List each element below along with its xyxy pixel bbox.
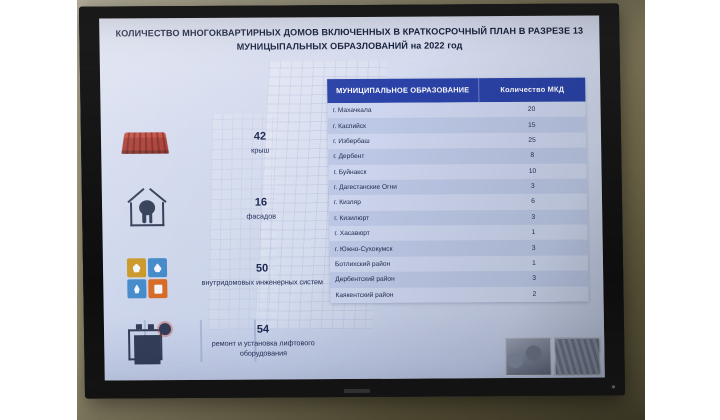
cell-count: 3 (479, 209, 587, 225)
table-row: г. Дербент8 (328, 148, 586, 165)
cell-municipality: г. Махачкала (327, 102, 477, 118)
table-row: г. Дагестанские Огни3 (329, 178, 587, 195)
table-row: г. Избербаш25 (328, 132, 586, 149)
cell-count: 6 (479, 194, 587, 210)
cell-count: 1 (480, 255, 588, 271)
stats-column: 42 крыш 16 (119, 113, 331, 378)
slide-title: КОЛИЧЕСТВО МНОГОКВАРТИРНЫХ ДОМОВ ВКЛЮЧЕН… (115, 24, 583, 55)
house-tools-icon (120, 186, 173, 232)
presentation-slide: КОЛИЧЕСТВО МНОГОКВАРТИРНЫХ ДОМОВ ВКЛЮЧЕН… (99, 15, 605, 380)
stat-item-roofs: 42 крыш (119, 113, 328, 172)
tv-bezel: КОЛИЧЕСТВО МНОГОКВАРТИРНЫХ ДОМОВ ВКЛЮЧЕН… (79, 3, 625, 398)
table-row: г. Кизляр6 (329, 194, 587, 211)
electricity-icon (127, 258, 146, 277)
gear-icon (159, 323, 171, 335)
cell-municipality: г. Дагестанские Огни (329, 179, 479, 195)
photo-thumbnail-strip (505, 337, 601, 376)
cell-municipality: г. Кизляр (329, 194, 479, 210)
cell-municipality: г. Каспийск (328, 118, 478, 134)
table-row: Ботлихский район1 (330, 255, 588, 272)
cell-municipality: г. Дербент (328, 148, 478, 164)
cell-count: 2 (480, 286, 588, 302)
table-header-row: МУНИЦИПАЛЬНОЕ ОБРАЗОВАНИЕ Количество МКД (327, 78, 585, 104)
cell-count: 1 (479, 225, 587, 241)
stat-label: фасадов (194, 211, 328, 222)
water-drop-icon (148, 258, 167, 277)
stat-label: крыш (193, 145, 327, 156)
stat-label: внутридомовых инженерных систем (195, 277, 329, 288)
roof-tiles-icon (119, 120, 172, 166)
cell-municipality: г. Кизилюрт (329, 210, 479, 226)
stat-label: ремонт и установка лифтового оборудовани… (196, 338, 330, 359)
stat-item-utilities: 50 внутридомовых инженерных систем (121, 245, 330, 304)
cell-count: 3 (480, 271, 588, 287)
letterbox-right (645, 0, 720, 420)
cell-municipality: г. Буйнакск (328, 164, 478, 180)
column-header-count: Количество МКД (479, 78, 585, 103)
elevator-gear-icon (122, 318, 175, 364)
table-row: г. Махачкала20 (327, 102, 585, 119)
cell-municipality: г. Избербаш (328, 133, 478, 149)
utilities-quad-icon (121, 252, 174, 298)
stat-item-elevators: 54 ремонт и установка лифтового оборудов… (122, 311, 331, 370)
cell-count: 15 (478, 117, 586, 133)
cell-municipality: Каякентский район (330, 287, 480, 303)
municipalities-table: МУНИЦИПАЛЬНОЕ ОБРАЗОВАНИЕ Количество МКД… (327, 78, 589, 303)
tv-brand-logo (344, 389, 370, 393)
stat-value: 54 (196, 323, 330, 337)
heating-icon (148, 279, 167, 298)
table-row: г. Южно-Сухокумск3 (330, 240, 588, 257)
cell-municipality: Ботлихский район (330, 256, 480, 272)
stat-item-facades: 16 фасадов (120, 179, 329, 238)
table-row: г. Каспийск15 (328, 117, 586, 134)
cell-count: 20 (477, 102, 585, 118)
stat-value: 42 (193, 130, 327, 144)
table-row: Каякентский район2 (330, 286, 588, 303)
wall-mounted-tv: КОЛИЧЕСТВО МНОГОКВАРТИРНЫХ ДОМОВ ВКЛЮЧЕН… (79, 3, 625, 398)
photo-thumbnail (554, 337, 601, 375)
cell-count: 3 (480, 240, 588, 256)
table-body: г. Махачкала20г. Каспийск15г. Избербаш25… (327, 102, 588, 303)
cell-count: 8 (478, 148, 586, 164)
table-row: г. Хасавюрт1 (329, 225, 587, 242)
gas-flame-icon (127, 279, 146, 298)
table-row: г. Буйнакск10 (328, 163, 586, 180)
photo-scene: КОЛИЧЕСТВО МНОГОКВАРТИРНЫХ ДОМОВ ВКЛЮЧЕН… (0, 0, 720, 420)
cell-municipality: г. Хасавюрт (329, 225, 479, 241)
letterbox-left (0, 0, 77, 420)
stat-value: 50 (195, 262, 329, 276)
column-header-municipality: МУНИЦИПАЛЬНОЕ ОБРАЗОВАНИЕ (327, 78, 479, 103)
table-row: Дербентский район3 (330, 271, 588, 288)
cell-municipality: Дербентский район (330, 271, 480, 287)
cell-count: 10 (478, 163, 586, 179)
photo-thumbnail (505, 338, 552, 376)
cell-count: 3 (479, 178, 587, 194)
table-row: г. Кизилюрт3 (329, 209, 587, 226)
tv-power-led (612, 385, 615, 388)
cell-municipality: г. Южно-Сухокумск (330, 241, 480, 257)
cell-count: 25 (478, 132, 586, 148)
stat-value: 16 (194, 196, 328, 210)
